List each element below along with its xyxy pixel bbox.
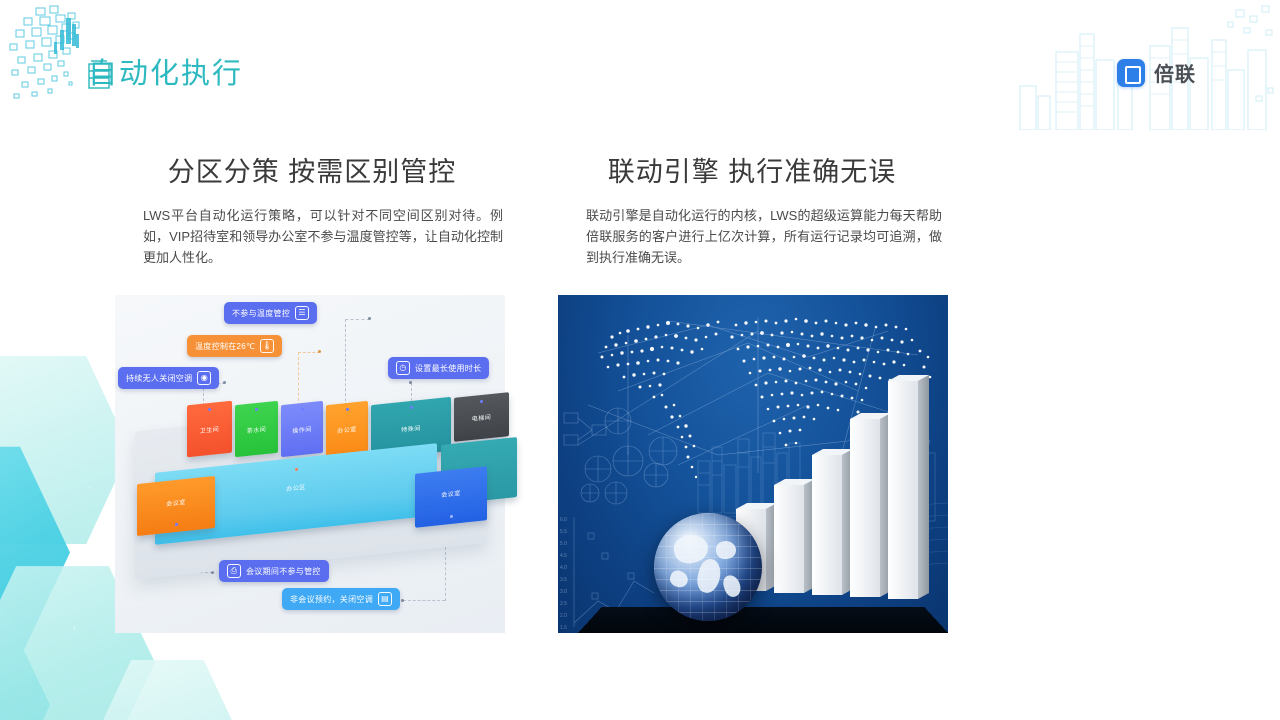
room-label: 会议室 <box>441 487 461 498</box>
room-office-room: 办公室 <box>326 401 368 457</box>
callout-label: 非会议预约，关闭空调 <box>290 594 373 605</box>
callout-label: 设置最长使用时长 <box>415 363 481 374</box>
room-label: 会议室 <box>166 496 186 507</box>
room-meeting-room-1: 会议室 <box>137 476 215 536</box>
callout-meeting-exempt[interactable]: ⎙ 会议期间不参与管控 <box>219 560 329 582</box>
calendar-icon: ▤ <box>378 592 392 606</box>
room-label: 茶水间 <box>247 423 267 434</box>
callout-label: 温度控制在26℃ <box>195 341 255 352</box>
bar-chart-3d <box>558 295 948 633</box>
page-title: 自动化执行 <box>88 50 243 92</box>
thermometer-icon: 🌡 <box>260 339 274 353</box>
room-meeting-room-2: 会议室 <box>415 466 487 528</box>
brand-mark-icon <box>1117 59 1145 87</box>
room-label: 特殊间 <box>401 422 421 433</box>
presentation-icon: ⎙ <box>227 564 241 578</box>
slide-header: 自动化执行 倍联 <box>0 0 1280 118</box>
room-label: 办公室 <box>337 423 357 434</box>
room-elevator-room: 电梯间 <box>454 392 509 442</box>
callout-no-temp-control[interactable]: 不参与温度管控 ☰ <box>224 302 317 324</box>
callout-temp-set-26[interactable]: 温度控制在26℃ 🌡 <box>187 335 282 357</box>
column-heading-left: 分区分策 按需区别管控 <box>117 150 507 189</box>
globe-3d <box>654 513 762 621</box>
room-pantry: 茶水间 <box>235 401 278 458</box>
column-heading-right: 联动引擎 执行准确无误 <box>556 150 948 189</box>
callout-label: 持续无人关闭空调 <box>126 373 192 384</box>
global-data-figure: 6.05.55.0 4.54.03.5 3.02.52.0 1.5 <box>558 295 948 633</box>
floor-plan-figure: 卫生间 茶水间 操作间 办公室 特殊间 电梯间 大 厅 办公区 <box>115 295 505 633</box>
brand-name: 倍联 <box>1154 58 1196 87</box>
column-body-left: LWS平台自动化运行策略，可以针对不同空间区别对待。例如，VIP招待室和领导办公… <box>115 205 507 268</box>
room-label: 电梯间 <box>472 411 492 422</box>
slide-root: 自动化执行 倍联 分区分策 按需区别管控 LWS平台自动化运行策略，可以针对不同… <box>0 0 1280 720</box>
brand-logo: 倍联 <box>1117 58 1196 87</box>
room-operation-room: 操作间 <box>281 401 323 457</box>
isometric-floor-plan: 卫生间 茶水间 操作间 办公室 特殊间 电梯间 大 厅 办公区 <box>115 295 505 633</box>
room-restroom: 卫生间 <box>187 401 232 458</box>
content-column-left: 分区分策 按需区别管控 LWS平台自动化运行策略，可以针对不同空间区别对待。例如… <box>115 150 507 268</box>
callout-label: 会议期间不参与管控 <box>246 566 321 577</box>
room-label: 卫生间 <box>200 423 220 434</box>
document-list-icon: ☰ <box>295 306 309 320</box>
room-label: 办公区 <box>286 481 306 492</box>
content-column-right: 联动引擎 执行准确无误 联动引擎是自动化运行的内核，LWS的超级运算能力每天帮助… <box>558 150 948 268</box>
column-body-right: 联动引擎是自动化运行的内核，LWS的超级运算能力每天帮助倍联服务的客户进行上亿次… <box>558 205 948 268</box>
callout-max-usage-duration[interactable]: ◷ 设置最长使用时长 <box>388 357 489 379</box>
callout-no-booking-shutdown[interactable]: 非会议预约，关闭空调 ▤ <box>282 588 400 610</box>
clock-icon: ◷ <box>396 361 410 375</box>
motion-sensor-icon: ◉ <box>197 371 211 385</box>
callout-label: 不参与温度管控 <box>232 308 290 319</box>
room-label: 操作间 <box>292 423 312 434</box>
callout-idle-shutdown-ac[interactable]: 持续无人关闭空调 ◉ <box>118 367 219 389</box>
